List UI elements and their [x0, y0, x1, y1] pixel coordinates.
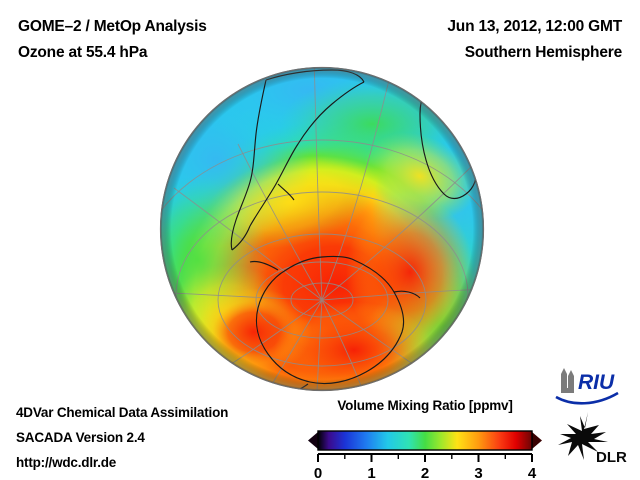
- colorbar-tick-label: 3: [474, 465, 482, 480]
- colorbar-svg: 01234: [300, 418, 550, 480]
- region-label: Southern Hemisphere: [447, 40, 622, 66]
- logo-group: RIU DLR: [552, 366, 638, 466]
- cathedral-towers-icon: [561, 368, 574, 393]
- colorbar-tick-label: 0: [314, 465, 322, 480]
- riu-wave-icon: [556, 393, 618, 403]
- datetime-label: Jun 13, 2012, 12:00 GMT: [447, 14, 622, 40]
- figure-title: GOME–2 / MetOp Analysis Ozone at 55.4 hP…: [18, 14, 207, 66]
- ozone-field: [158, 64, 490, 396]
- globe-svg: [158, 64, 490, 396]
- figure-subtitle: Jun 13, 2012, 12:00 GMT Southern Hemisph…: [447, 14, 622, 66]
- riu-wordmark: RIU: [578, 371, 615, 394]
- colorbar-tick-label: 4: [528, 465, 537, 480]
- coastline-australia: [474, 80, 490, 86]
- logos-svg: RIU DLR: [552, 366, 638, 466]
- colorbar-tick-labels: 01234: [314, 465, 537, 480]
- colorbar-ticks: [318, 454, 532, 462]
- colorbar-max-arrow: [532, 432, 542, 449]
- colorbar-tick-label: 1: [367, 465, 375, 480]
- colorbar-title: Volume Mixing Ratio [ppmv]: [300, 398, 550, 413]
- riu-logo: RIU: [556, 368, 618, 403]
- dlr-logo: DLR: [558, 412, 627, 466]
- colorbar-gradient: [318, 431, 532, 450]
- figure-root: GOME–2 / MetOp Analysis Ozone at 55.4 hP…: [0, 0, 640, 480]
- colorbar-tick-label: 2: [421, 465, 429, 480]
- footer-line-3: http://wdc.dlr.de: [16, 450, 228, 475]
- colorbar-min-arrow: [308, 432, 318, 449]
- footer-line-1: 4DVar Chemical Data Assimilation: [16, 400, 228, 425]
- title-line-2: Ozone at 55.4 hPa: [18, 40, 207, 66]
- footer-credits: 4DVar Chemical Data Assimilation SACADA …: [16, 400, 228, 475]
- dlr-wordmark: DLR: [596, 449, 627, 466]
- footer-line-2: SACADA Version 2.4: [16, 425, 228, 450]
- coastline-madagascar: [480, 160, 490, 196]
- colorbar: Volume Mixing Ratio [ppmv] 01234: [300, 398, 550, 476]
- ozone-globe-map: [158, 64, 490, 396]
- title-line-1: GOME–2 / MetOp Analysis: [18, 14, 207, 40]
- coastline-new-zealand: [168, 364, 194, 376]
